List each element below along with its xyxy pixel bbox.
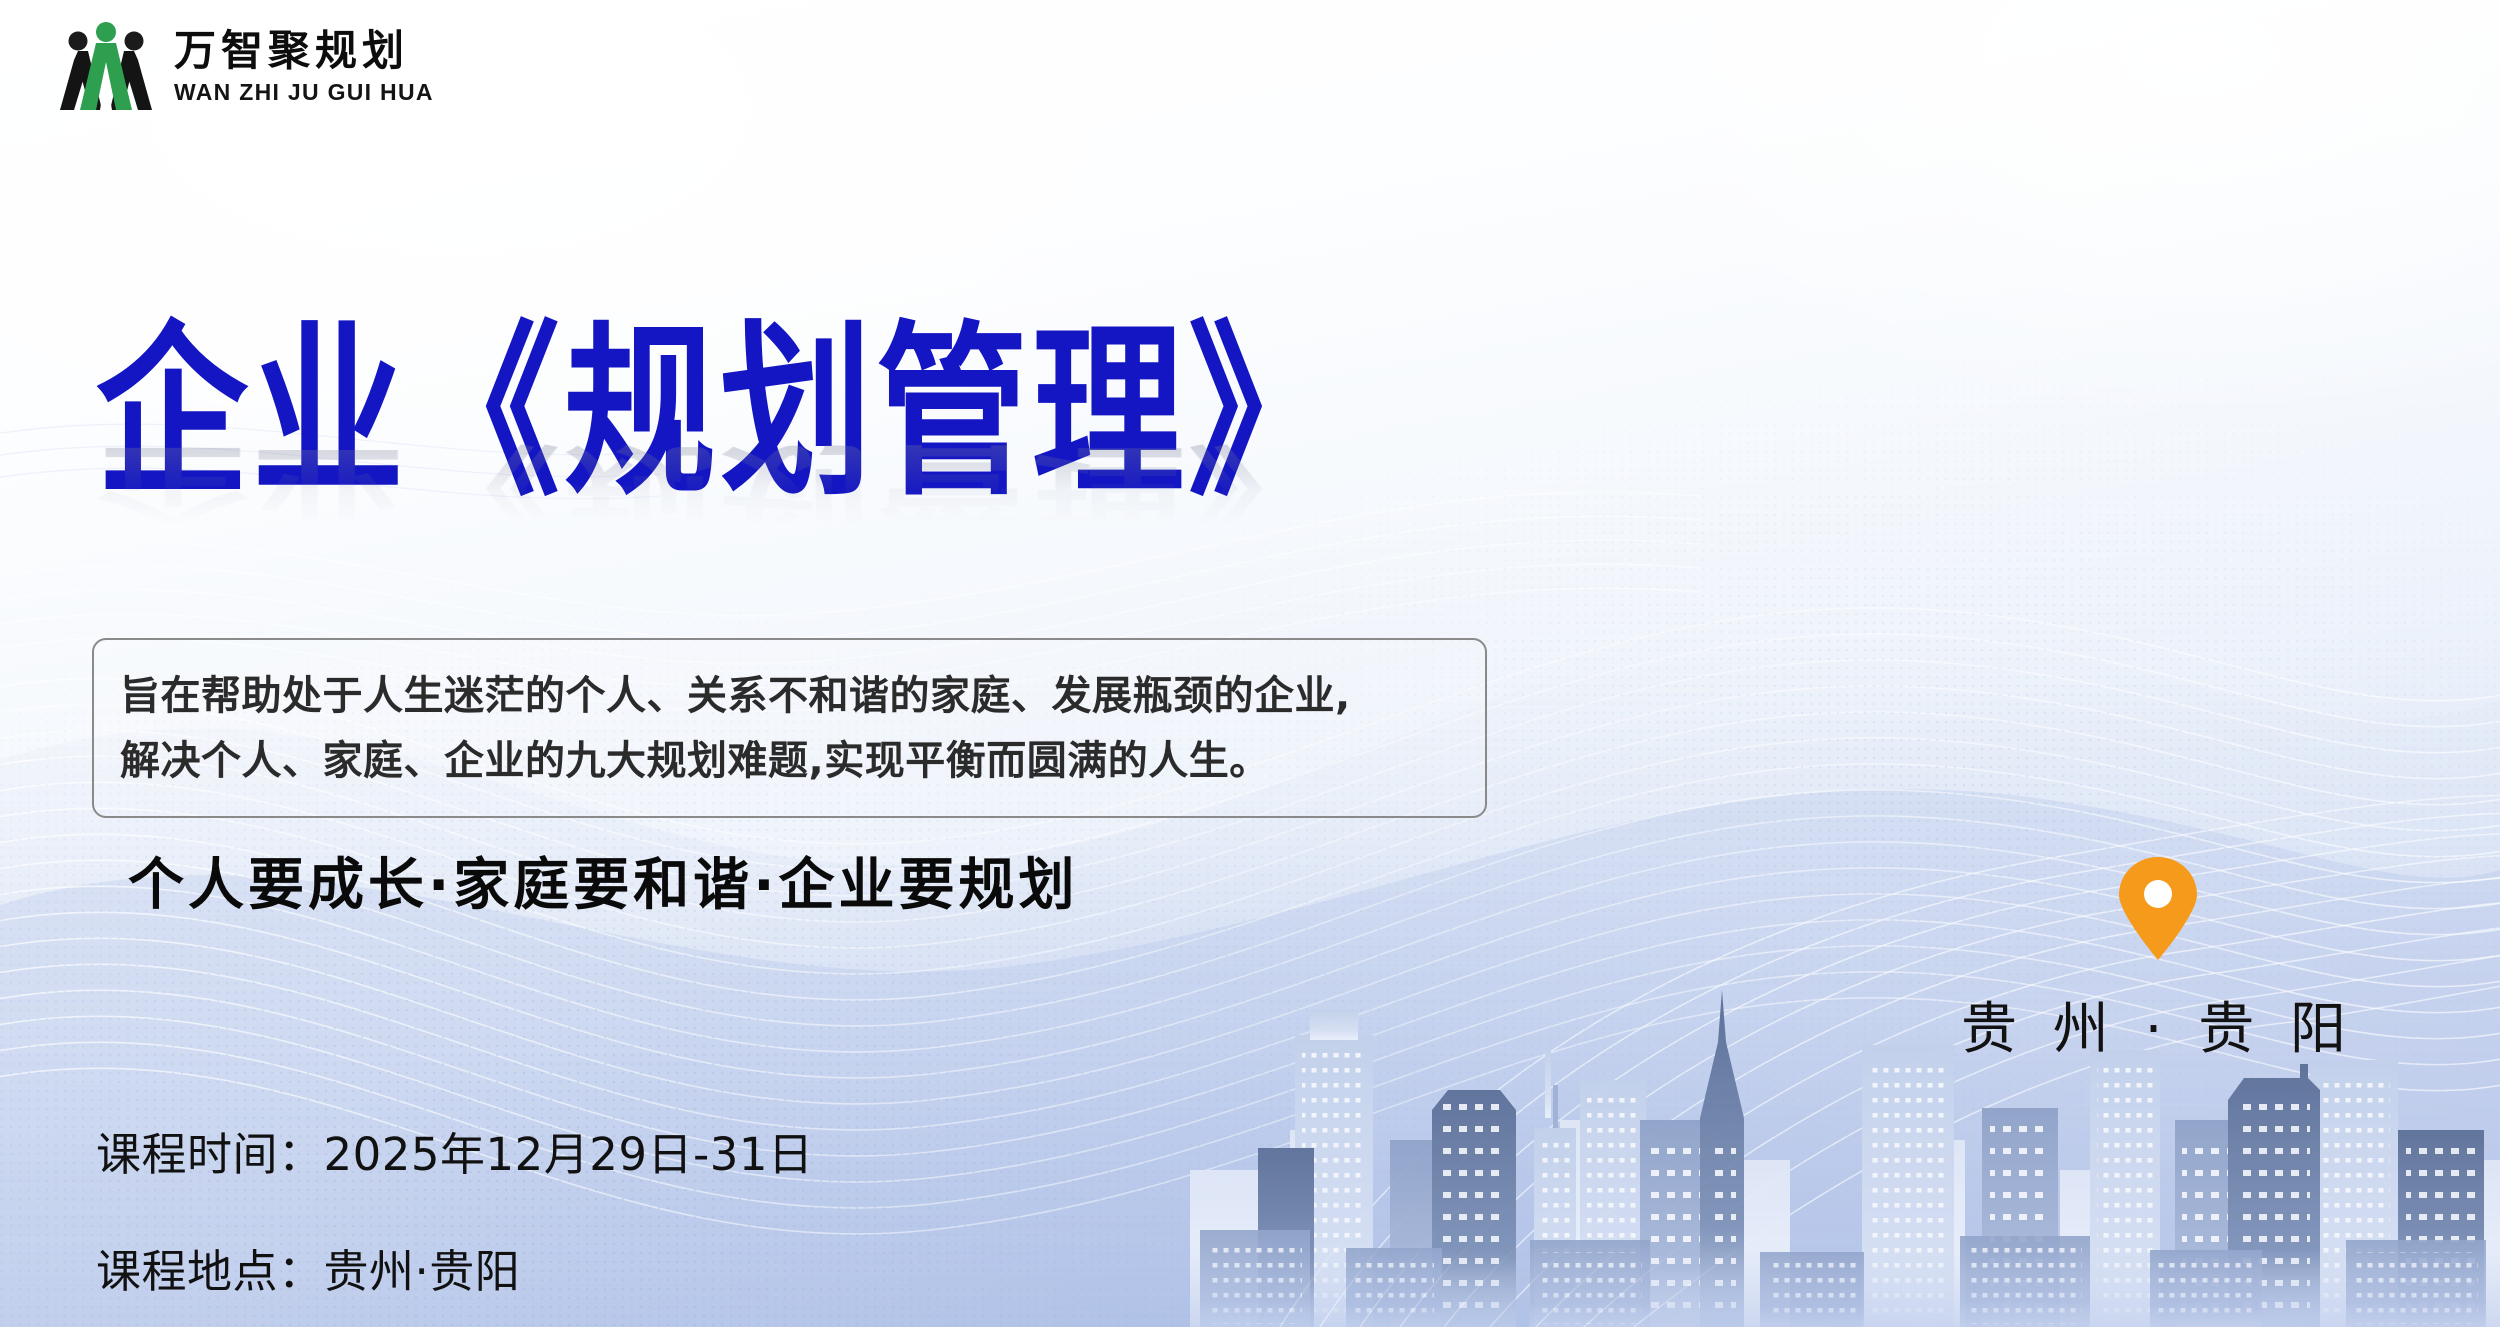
slogan-text: 个人要成长·家庭要和谐·企业要规划 [128, 840, 1079, 921]
course-info-block: 课程时间：2025年12月29日-31日 课程地点：贵州·贵阳 [96, 1118, 814, 1300]
poster-canvas: 万智聚规划 WAN ZHI JU GUI HUA 企业《规划管理》 企业《规划管… [0, 0, 2500, 1327]
map-pin-icon [2115, 856, 2201, 962]
course-time: 课程时间：2025年12月29日-31日 [96, 1118, 814, 1183]
location-badge-text: 贵 州 · 贵 阳 [1961, 984, 2355, 1065]
description-box: 旨在帮助处于人生迷茫的个人、关系不和谐的家庭、发展瓶颈的企业, 解决个人、家庭、… [92, 638, 1487, 818]
page-title-reflection: 企业《规划管理》 [96, 439, 1344, 532]
brand-name-cn: 万智聚规划 [174, 30, 434, 72]
three-people-group-icon [52, 18, 160, 116]
hero-title-block: 企业《规划管理》 企业《规划管理》 [96, 318, 1576, 473]
brand-logo-text: 万智聚规划 WAN ZHI JU GUI HUA [174, 30, 434, 104]
description-line-1: 旨在帮助处于人生迷茫的个人、关系不和谐的家庭、发展瓶颈的企业, [120, 664, 1459, 729]
brand-name-pinyin: WAN ZHI JU GUI HUA [174, 81, 434, 104]
location-badge: 贵 州 · 贵 阳 [1948, 856, 2368, 1065]
course-place: 课程地点：贵州·贵阳 [96, 1235, 814, 1300]
description-line-2: 解决个人、家庭、企业的九大规划难题,实现平衡而圆满的人生。 [120, 729, 1459, 794]
brand-logo: 万智聚规划 WAN ZHI JU GUI HUA [52, 18, 434, 116]
